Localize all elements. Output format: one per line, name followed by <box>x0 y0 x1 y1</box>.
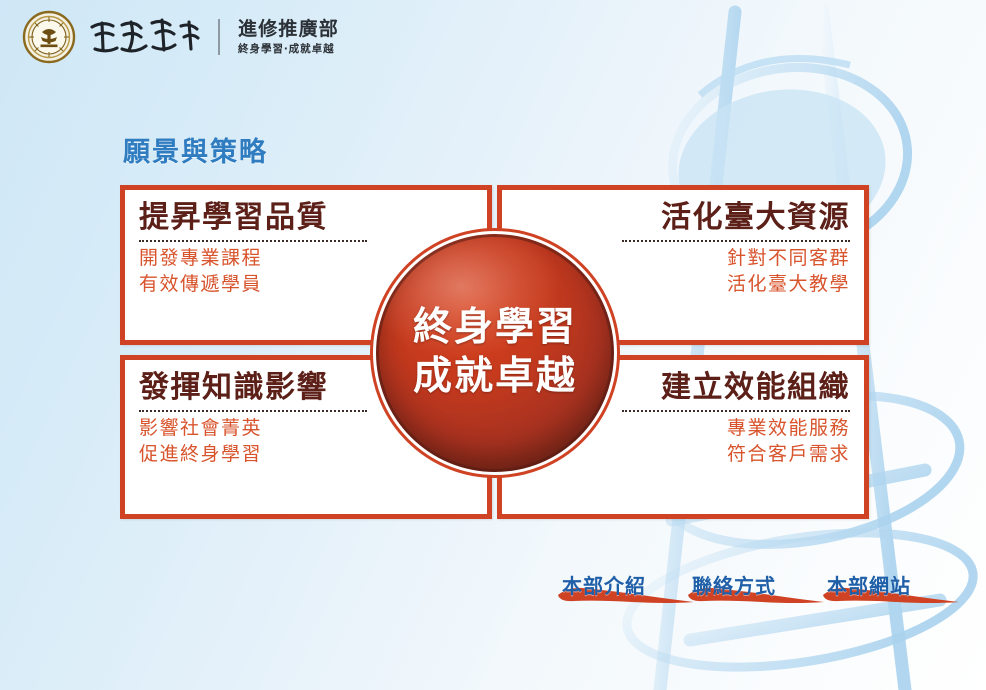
quadrant-bullet: 專業效能服務 <box>622 416 850 441</box>
quadrant-bullets: 專業效能服務 符合客戶需求 <box>622 416 850 467</box>
quadrant-bullet: 針對不同客群 <box>622 246 850 271</box>
quadrant-bullet: 活化臺大教學 <box>622 272 850 297</box>
quadrant-bullet: 有效傳遞學員 <box>139 272 367 297</box>
quadrant-divider <box>622 240 850 242</box>
page-title: 願景與策略 <box>123 130 268 169</box>
header-divider <box>218 19 220 55</box>
link-label: 聯絡方式 <box>692 570 776 599</box>
header-department-name: 進修推廣部 <box>238 19 339 41</box>
quadrant-heading: 提昇學習品質 <box>139 200 367 235</box>
center-line-1: 終身學習 <box>413 304 577 353</box>
quadrant-heading: 建立效能組織 <box>622 370 850 405</box>
center-vision-circle[interactable]: 終身學習 成就卓越 <box>370 228 620 478</box>
quadrant-bullet: 影響社會菁英 <box>139 416 367 441</box>
quadrant-heading: 活化臺大資源 <box>622 200 850 235</box>
quadrant-divider <box>139 240 367 242</box>
link-department-site[interactable]: 本部網站 <box>821 570 961 604</box>
site-header: 進修推廣部 終身學習‧成就卓越 <box>22 10 339 64</box>
link-contact-method[interactable]: 聯絡方式 <box>686 570 826 604</box>
header-slogan: 終身學習‧成就卓越 <box>238 44 339 56</box>
center-sphere: 終身學習 成就卓越 <box>376 234 614 472</box>
quadrant-bullets: 開發專業課程 有效傳遞學員 <box>139 246 367 297</box>
quadrant-bullet: 促進終身學習 <box>139 442 367 467</box>
quadrant-divider <box>139 410 367 412</box>
slide-canvas: 進修推廣部 終身學習‧成就卓越 願景與策略 提昇學習品質 開發專業課程 有效傳遞… <box>0 0 986 690</box>
quadrant-heading: 發揮知識影響 <box>139 370 367 405</box>
quadrant-bullet: 開發專業課程 <box>139 246 367 271</box>
ntu-wordmark-icon <box>86 13 204 61</box>
quadrant-bullets: 影響社會菁英 促進終身學習 <box>139 416 367 467</box>
quadrant-divider <box>622 410 850 412</box>
link-label: 本部網站 <box>827 570 911 599</box>
bottom-link-bar: 本部介紹 聯絡方式 本部網站 <box>556 570 956 612</box>
ntu-seal-icon <box>22 10 76 64</box>
quadrant-bullets: 針對不同客群 活化臺大教學 <box>622 246 850 297</box>
quadrant-bullet: 符合客戶需求 <box>622 442 850 467</box>
header-text-group: 進修推廣部 終身學習‧成就卓越 <box>238 19 339 55</box>
link-about-department[interactable]: 本部介紹 <box>556 570 696 604</box>
link-label: 本部介紹 <box>562 570 646 599</box>
center-line-2: 成就卓越 <box>413 353 577 402</box>
